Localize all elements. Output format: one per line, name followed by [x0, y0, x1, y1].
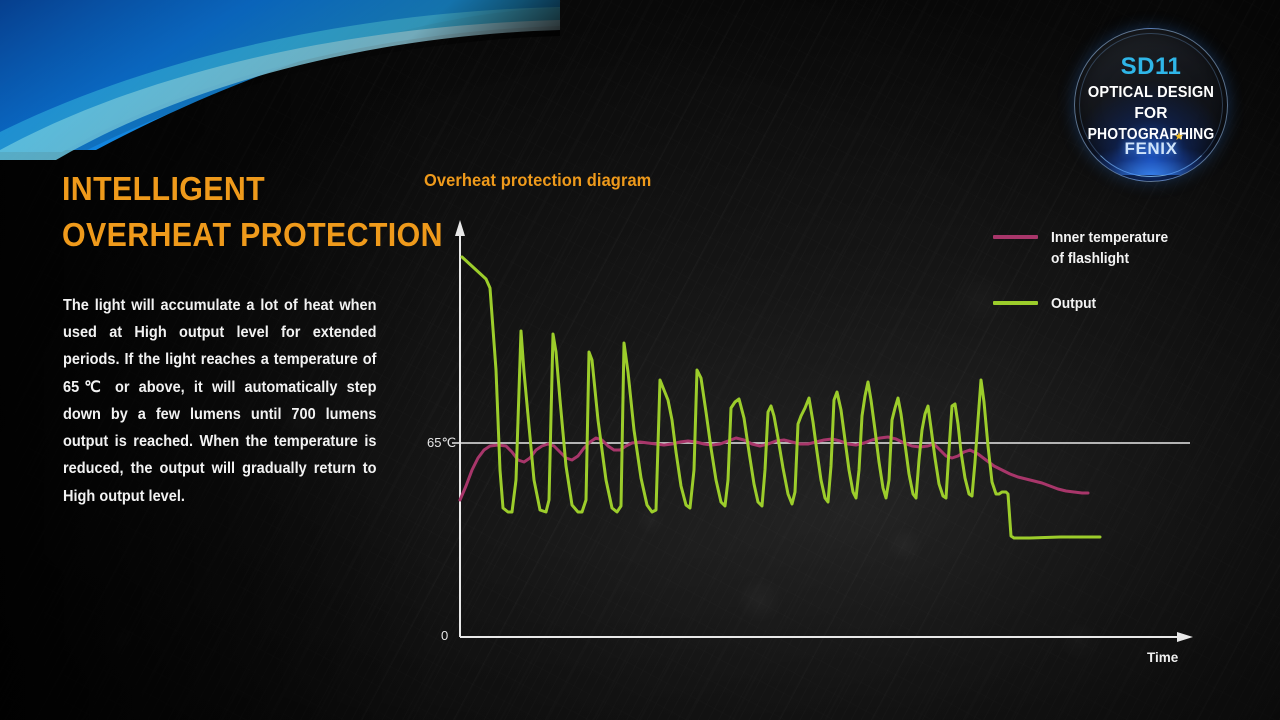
y-axis-tick-zero: 0 [441, 628, 448, 643]
legend-item-output: Output [993, 294, 1174, 315]
legend-label-temperature: Inner temperature of flashlight [1051, 228, 1168, 270]
x-axis-label: Time [1147, 650, 1178, 665]
body-paragraph: The light will accumulate a lot of heat … [63, 292, 377, 510]
product-badge: SD11 OPTICAL DESIGN FOR PHOTOGRAPHING ★ … [1074, 28, 1228, 182]
badge-model: SD11 [1075, 53, 1227, 81]
legend-item-temperature: Inner temperature of flashlight [993, 228, 1174, 270]
page-title: INTELLIGENT OVERHEAT PROTECTION [62, 166, 430, 257]
legend-label-output: Output [1051, 294, 1096, 315]
page-title-line-1: INTELLIGENT [62, 166, 430, 212]
blue-swoosh-graphic [0, 0, 560, 190]
line-swatch-icon [993, 301, 1038, 305]
slide-root: INTELLIGENT OVERHEAT PROTECTION The ligh… [0, 0, 1280, 720]
chart-legend: Inner temperature of flashlight Output [993, 228, 1174, 339]
chart-title: Overheat protection diagram [424, 170, 651, 191]
badge-line-2: FOR [1075, 105, 1227, 123]
brand-logo: FENIX [1075, 139, 1227, 159]
page-title-line-2: OVERHEAT PROTECTION [62, 212, 430, 258]
y-axis-tick-65c: 65℃ [427, 435, 456, 451]
line-swatch-icon [993, 235, 1038, 239]
badge-line-1: OPTICAL DESIGN [1080, 84, 1223, 102]
